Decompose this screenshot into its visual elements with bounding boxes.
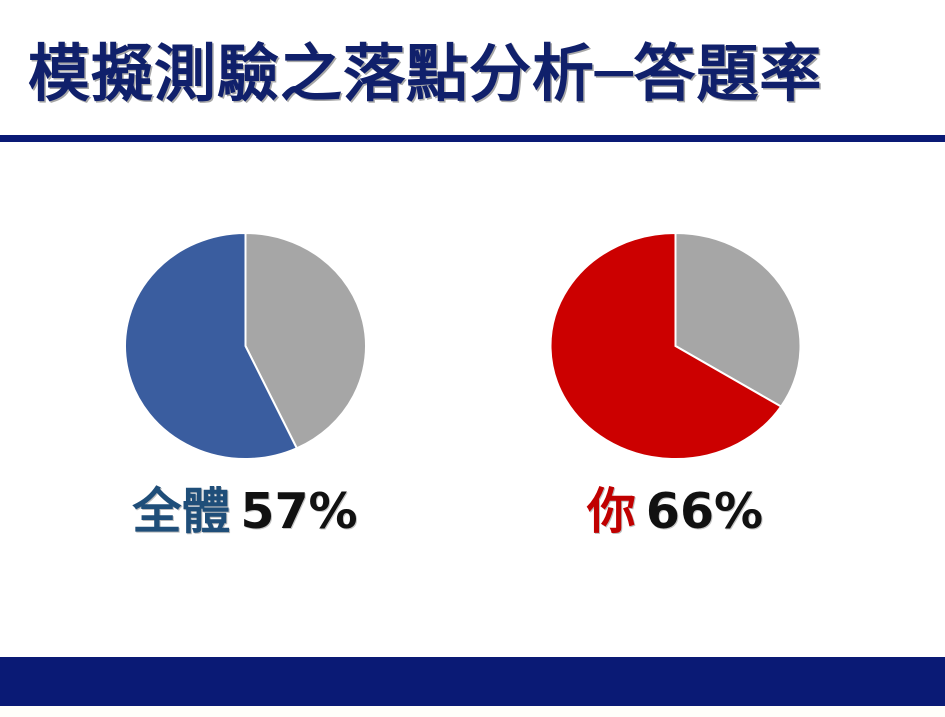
slide-canvas: 模擬測驗之落點分析─答題率 全體57% — [0, 0, 945, 717]
chart-label-overall-name: 全體 — [132, 483, 230, 540]
chart-label-overall: 全體57% — [35, 487, 455, 536]
footer-bar — [0, 657, 945, 706]
chart-label-overall-value: 57% — [240, 483, 357, 540]
chart-block-you: 你66% — [465, 150, 885, 580]
charts-area: 全體57% 你66% — [0, 150, 945, 590]
chart-label-you-name: 你 — [587, 483, 636, 540]
pie-chart-overall — [35, 232, 455, 467]
footer-edge-strip — [0, 706, 945, 717]
pie-chart-you-svg — [548, 232, 803, 460]
chart-label-you: 你66% — [465, 487, 885, 536]
chart-label-you-value: 66% — [646, 483, 763, 540]
title-divider-rule — [0, 135, 945, 142]
page-title: 模擬測驗之落點分析─答題率 — [28, 41, 822, 106]
pie-chart-you — [465, 232, 885, 467]
pie-chart-overall-svg — [123, 232, 368, 460]
chart-block-overall: 全體57% — [35, 150, 455, 580]
title-zone: 模擬測驗之落點分析─答題率 — [0, 22, 945, 126]
